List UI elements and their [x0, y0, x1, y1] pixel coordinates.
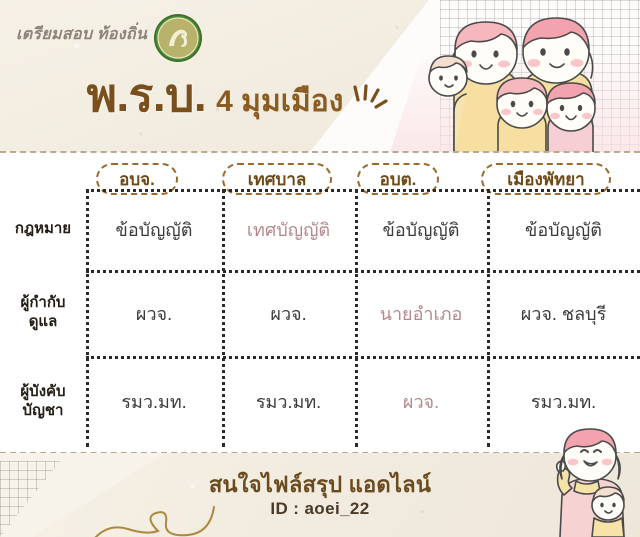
row-label-supervisor: ผู้กำกับ ดูแล — [0, 294, 86, 332]
row-label-line2: บัญชา — [4, 402, 82, 421]
table-cell: ผวจ. — [86, 299, 222, 328]
table-row: กฎหมาย ข้อบัญญัติ เทศบัญญัติ ข้อบัญญัติ … — [0, 189, 640, 270]
row-label-line2: ดูแล — [4, 313, 82, 332]
comparison-table: อบจ. เทศบาล อบต. เมืองพัทยา กฎหมาย ข้อบั… — [0, 153, 640, 452]
table-row: ผู้กำกับ ดูแล ผวจ. ผวจ. นายอำเภอ ผวจ. ชล… — [0, 270, 640, 356]
table-cell: รมว.มท. — [487, 387, 640, 416]
table-cell-highlighted: นายอำเภอ — [355, 299, 487, 328]
row-label-line1: ผู้กำกับ — [4, 294, 82, 313]
table-cell: ข้อบัญญัติ — [86, 215, 222, 244]
page-title: พ.ร.บ. — [87, 72, 207, 118]
kicker-text: เตรียมสอบ ท้องถิ่น — [16, 22, 147, 47]
infographic-page: เตรียมสอบ ท้องถิ่น พ.ร.บ. 4 มุมเมือง — [0, 0, 640, 537]
mother-with-baby-pointing-icon — [542, 425, 634, 537]
page-subtitle: 4 มุมเมือง — [216, 87, 343, 117]
family-illustration-icon — [426, 8, 622, 152]
header-band: เตรียมสอบ ท้องถิ่น พ.ร.บ. 4 มุมเมือง — [0, 0, 640, 152]
table-cell: ผวจ. ชลบุรี — [487, 299, 640, 328]
row-label-commander: ผู้บังคับ บัญชา — [0, 383, 86, 421]
table-body: กฎหมาย ข้อบัญญัติ เทศบัญญัติ ข้อบัญญัติ … — [0, 189, 640, 447]
row-label-line1: ผู้บังคับ — [4, 383, 82, 402]
table-cell: ข้อบัญญัติ — [355, 215, 487, 244]
singha-emblem-icon — [152, 12, 204, 64]
table-cell-highlighted: เทศบัญญัติ — [222, 215, 355, 244]
row-label-law: กฎหมาย — [0, 220, 86, 239]
table-cell: ผวจ. — [222, 299, 355, 328]
sparkle-icon — [352, 84, 388, 118]
table-cell-highlighted: ผวจ. — [355, 387, 487, 416]
table-cell: รมว.มท. — [222, 387, 355, 416]
table-cell: ข้อบัญญัติ — [487, 215, 640, 244]
table-cell: รมว.มท. — [86, 387, 222, 416]
